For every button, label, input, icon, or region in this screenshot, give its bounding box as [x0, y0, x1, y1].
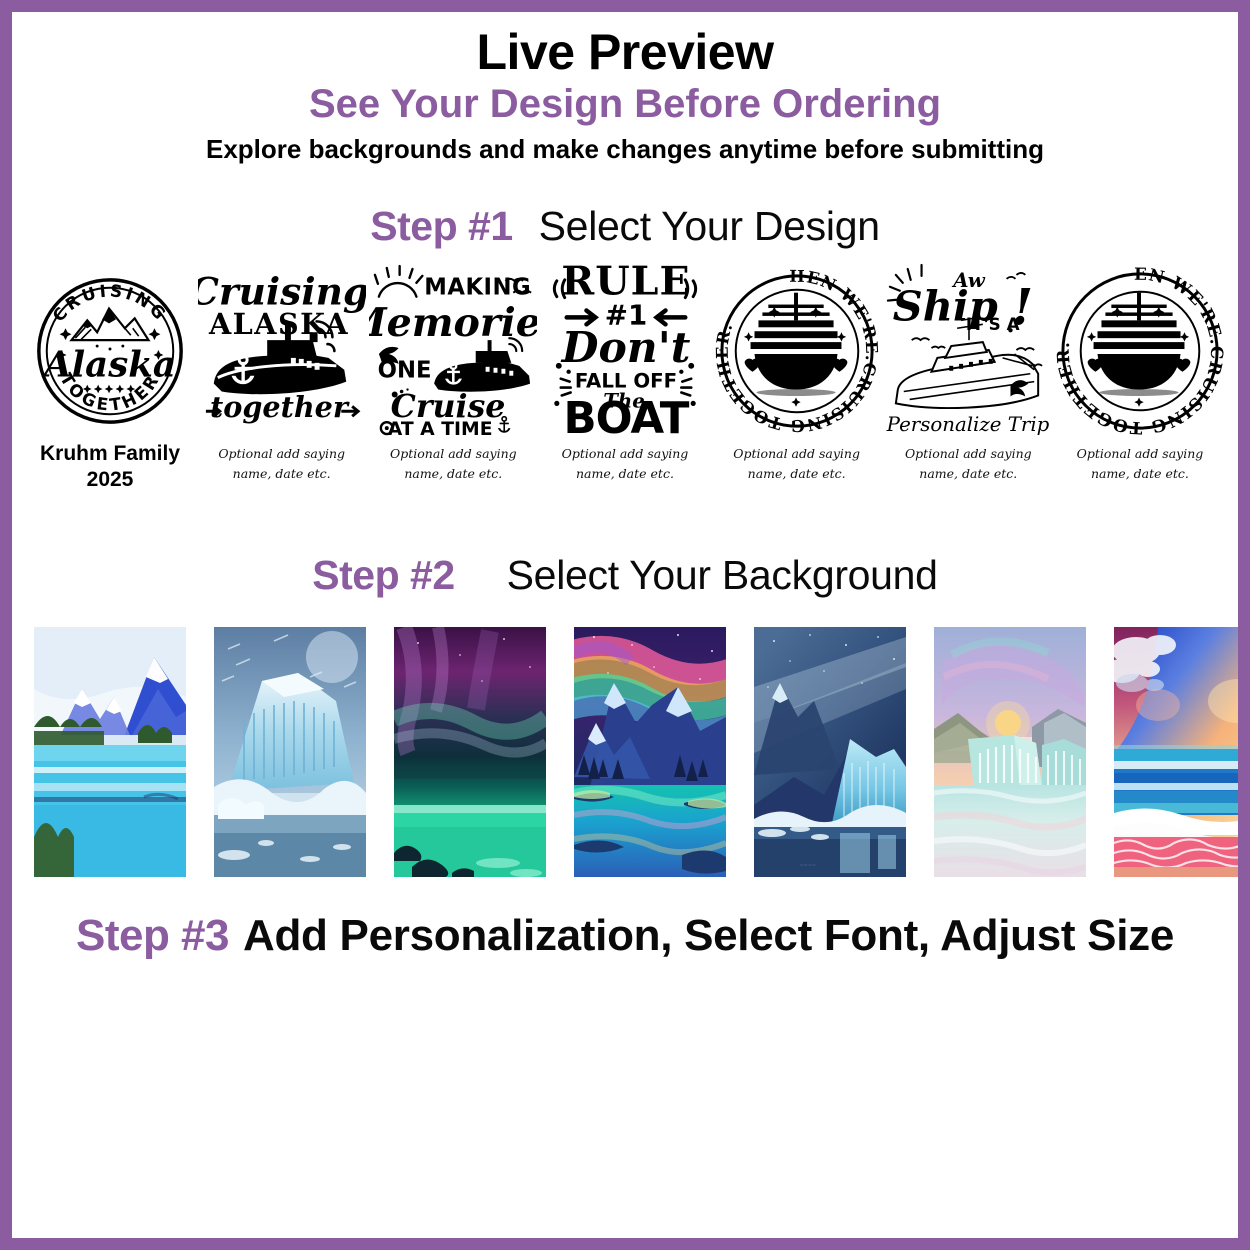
- design-personal-line-1: Kruhm Family: [40, 442, 180, 466]
- preview-canvas: Live Preview See Your Design Before Orde…: [12, 12, 1238, 1238]
- sunset-pink-beach-image: [1114, 627, 1238, 877]
- step-3-text: Add Personalization, Select Font, Adjust…: [243, 911, 1174, 961]
- background-options-row: ~~~~: [12, 627, 1238, 877]
- design-caption-line-2: name, date etc.: [1077, 464, 1204, 483]
- design-caption-line-2: name, date etc.: [733, 464, 860, 483]
- step-2-heading: Step #2 Select Your Background: [12, 552, 1238, 599]
- svg-text:AT A TIME: AT A TIME: [388, 419, 493, 440]
- design-option-cruising-alaska-together-ship[interactable]: Cruising ALASKA: [198, 262, 366, 483]
- design-caption-line-1: Optional add saying: [733, 444, 860, 463]
- design-caption: Optional add saying name, date etc.: [390, 444, 517, 483]
- rule-one-boat-icon: RULE #1 Don't FALL OFF: [541, 262, 709, 440]
- design-caption: Optional add saying name, date etc.: [562, 444, 689, 483]
- background-option-pastel-sunrise-glacier[interactable]: [934, 627, 1086, 877]
- aw-ship-icon: Aw Ship IT'S A !: [884, 262, 1052, 440]
- svg-text:Don't: Don't: [561, 323, 691, 373]
- step-3-heading: Step #3 Add Personalization, Select Font…: [12, 911, 1238, 961]
- step-3-label: Step #3: [76, 911, 229, 961]
- svg-text:!: !: [1012, 279, 1034, 337]
- pastel-sunrise-glacier-image: [934, 627, 1086, 877]
- background-option-blue-glacier-night[interactable]: ~~~~: [754, 627, 906, 877]
- design-option-aw-ship-personalize-trip[interactable]: Aw Ship IT'S A !: [884, 262, 1052, 483]
- svg-text:Personalize Trip: Personalize Trip: [886, 413, 1050, 436]
- blue-glacier-night-image: ~~~~: [754, 627, 906, 877]
- background-option-aurora-mountain-lake[interactable]: [574, 627, 726, 877]
- design-personal-line-2: 2025: [87, 468, 134, 492]
- page-subtitle: See Your Design Before Ordering: [12, 81, 1238, 128]
- aurora-mountain-lake-image: [574, 627, 726, 877]
- design-option-making-memories-one-cruise[interactable]: MAKING Memories ONE: [369, 262, 537, 483]
- cruising-alaska-ship-icon: Cruising ALASKA: [198, 262, 366, 440]
- step-1-heading: Step #1 Select Your Design: [12, 203, 1238, 250]
- svg-text:Alaska: Alaska: [41, 345, 176, 386]
- design-caption-line-1: Optional add saying: [390, 444, 517, 463]
- svg-text:~~~~: ~~~~: [800, 863, 817, 869]
- background-option-sunset-pink-beach[interactable]: [1114, 627, 1238, 877]
- page-description: Explore backgrounds and make changes any…: [12, 134, 1238, 165]
- design-options-row: CRUISING TOGETHER: [12, 262, 1238, 492]
- making-memories-icon: MAKING Memories ONE: [369, 262, 537, 440]
- page-title: Live Preview: [12, 26, 1238, 79]
- background-option-aurora-teal-ocean[interactable]: [394, 627, 546, 877]
- design-caption-line-1: Optional add saying: [1077, 444, 1204, 463]
- svg-text:BOAT: BOAT: [564, 394, 690, 440]
- design-option-rule-1-dont-fall-off-the-boat[interactable]: RULE #1 Don't FALL OFF: [541, 262, 709, 483]
- watercolor-mountain-lake-image: [34, 627, 186, 877]
- step-1-label: Step #1: [370, 203, 512, 250]
- svg-text:MAKING: MAKING: [425, 275, 532, 301]
- step-2-text: Select Your Background: [507, 552, 938, 599]
- background-option-watercolor-mountain-lake[interactable]: [34, 627, 186, 877]
- step-1-text: Select Your Design: [539, 203, 880, 250]
- design-option-i-love-it-cruising-together-badge[interactable]: I LOVE IT.WHEN WE'RE.CRUISING TOGETHER.: [1056, 262, 1224, 483]
- cruising-alaska-badge-icon: CRUISING TOGETHER: [26, 262, 194, 440]
- design-caption-line-1: Optional add saying: [905, 444, 1032, 463]
- svg-text:ONE: ONE: [378, 358, 432, 384]
- design-caption: Optional add saying name, date etc.: [1077, 444, 1204, 483]
- design-caption: Optional add saying name, date etc.: [905, 444, 1032, 483]
- svg-text:ALASKA: ALASKA: [208, 308, 349, 342]
- design-caption-line-2: name, date etc.: [562, 464, 689, 483]
- iceberg-glacier-image: [214, 627, 366, 877]
- design-caption: Optional add saying name, date etc.: [218, 444, 345, 483]
- design-caption-line-2: name, date etc.: [905, 464, 1032, 483]
- aurora-teal-ocean-image: [394, 627, 546, 877]
- purple-frame: Live Preview See Your Design Before Orde…: [0, 0, 1250, 1250]
- design-caption-line-1: Optional add saying: [218, 444, 345, 463]
- design-caption-line-1: Optional add saying: [562, 444, 689, 463]
- we-love-it-cruising-badge-icon: WE LOVE IT. WHEN WE'RE.CRUISING TOGETHER…: [713, 262, 881, 440]
- design-caption: Optional add saying name, date etc.: [733, 444, 860, 483]
- design-option-cruising-alaska-together-badge[interactable]: CRUISING TOGETHER: [26, 262, 194, 492]
- background-option-iceberg-glacier[interactable]: [214, 627, 366, 877]
- i-love-it-cruising-badge-icon: I LOVE IT.WHEN WE'RE.CRUISING TOGETHER.: [1056, 262, 1224, 440]
- svg-text:together: together: [210, 391, 350, 425]
- header: Live Preview See Your Design Before Orde…: [12, 12, 1238, 165]
- design-option-we-love-it-cruising-together-badge[interactable]: WE LOVE IT. WHEN WE'RE.CRUISING TOGETHER…: [713, 262, 881, 483]
- step-2-label: Step #2: [312, 552, 454, 599]
- design-caption-line-2: name, date etc.: [390, 464, 517, 483]
- design-caption-line-2: name, date etc.: [218, 464, 345, 483]
